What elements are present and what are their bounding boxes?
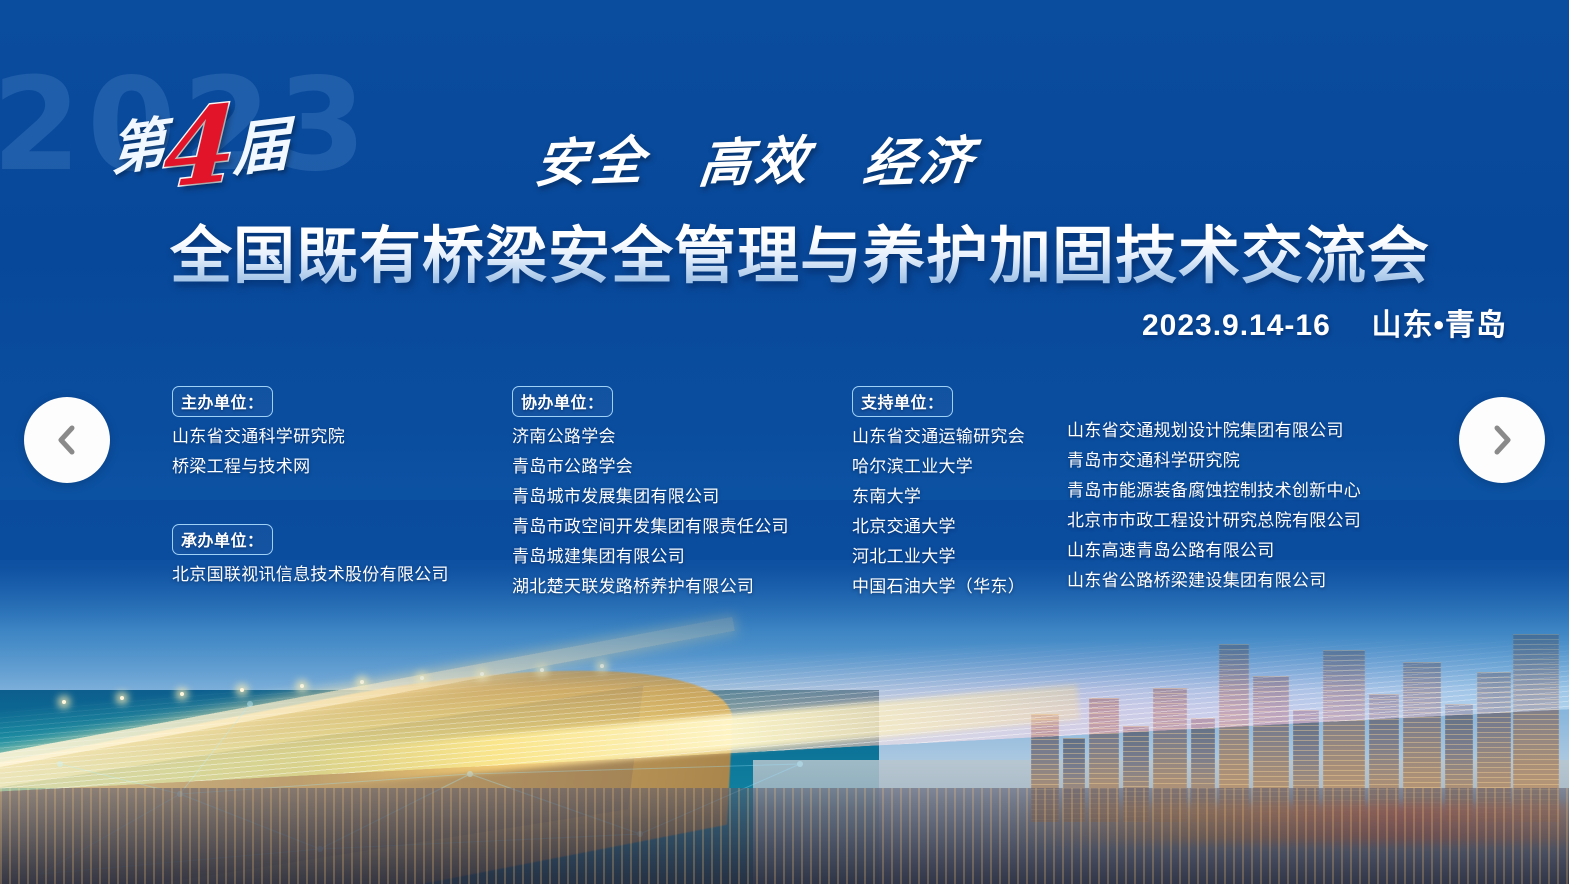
list-item: 青岛城市发展集团有限公司 (512, 482, 852, 512)
list-item: 济南公路学会 (512, 422, 852, 452)
list-item: 北京交通大学 (852, 512, 1067, 542)
list-item: 东南大学 (852, 482, 1067, 512)
list-item: 青岛市公路学会 (512, 452, 852, 482)
list-item: 北京市市政工程设计研究总院有限公司 (1067, 506, 1397, 536)
date-location: 2023.9.14-16 山东•青岛 (1142, 300, 1507, 344)
banner-carousel: 2023 第 4 届 安全 高效 经济 全国既有桥梁安全管理与养护加固技术交流会… (0, 0, 1569, 884)
chevron-left-icon (52, 423, 82, 457)
badge-supporter: 支持单位： (852, 386, 953, 417)
list-item: 山东省交通科学研究院 (172, 422, 512, 452)
list-item: 青岛市政空间开发集团有限责任公司 (512, 512, 852, 542)
foreground-street-lights (0, 788, 1569, 884)
list-item: 中国石油大学（华东） (852, 572, 1067, 602)
list-item: 桥梁工程与技术网 (172, 452, 512, 482)
organizer-column-supporter-b: 山东省交通规划设计院集团有限公司 青岛市交通科学研究院 青岛市能源装备腐蚀控制技… (1067, 386, 1397, 596)
tagline-word-3: 经济 (860, 118, 980, 197)
badge-coorganizer: 协办单位： (512, 386, 613, 417)
list-item: 青岛市交通科学研究院 (1067, 446, 1397, 476)
list-item: 哈尔滨工业大学 (852, 452, 1067, 482)
event-date: 2023.9.14-16 (1142, 309, 1331, 342)
page-title: 全国既有桥梁安全管理与养护加固技术交流会 (170, 205, 1430, 295)
badge-organizer: 承办单位： (172, 524, 273, 555)
list-item: 青岛城建集团有限公司 (512, 542, 852, 572)
list-item: 山东高速青岛公路有限公司 (1067, 536, 1397, 566)
carousel-prev-button[interactable] (24, 397, 110, 483)
list-item: 山东省公路桥梁建设集团有限公司 (1067, 566, 1397, 596)
edition-logo: 第 4 届 (110, 92, 360, 202)
list-item: 山东省交通运输研究会 (852, 422, 1067, 452)
carousel-next-button[interactable] (1459, 397, 1545, 483)
column-spacer (172, 482, 512, 524)
edition-suffix: 届 (232, 114, 291, 179)
tagline: 安全 高效 经济 (536, 120, 976, 195)
edition-prefix: 第 (109, 115, 166, 179)
event-location: 山东•青岛 (1371, 309, 1507, 342)
organizers-block: 主办单位： 山东省交通科学研究院 桥梁工程与技术网 承办单位： 北京国联视讯信息… (172, 386, 1397, 602)
organizer-column-supporter-a: 支持单位： 山东省交通运输研究会 哈尔滨工业大学 东南大学 北京交通大学 河北工… (852, 386, 1067, 602)
edition-number: 4 (161, 91, 238, 204)
list-item: 北京国联视讯信息技术股份有限公司 (172, 560, 512, 590)
list-item: 河北工业大学 (852, 542, 1067, 572)
list-item: 青岛市能源装备腐蚀控制技术创新中心 (1067, 476, 1397, 506)
organizer-column-coorganizer: 协办单位： 济南公路学会 青岛市公路学会 青岛城市发展集团有限公司 青岛市政空间… (512, 386, 852, 602)
organizer-column-host: 主办单位： 山东省交通科学研究院 桥梁工程与技术网 承办单位： 北京国联视讯信息… (172, 386, 512, 590)
badge-host: 主办单位： (172, 386, 273, 417)
tagline-word-2: 高效 (696, 118, 816, 197)
chevron-right-icon (1487, 423, 1517, 457)
tagline-word-1: 安全 (532, 118, 652, 197)
list-item: 湖北楚天联发路桥养护有限公司 (512, 572, 852, 602)
list-item: 山东省交通规划设计院集团有限公司 (1067, 416, 1397, 446)
